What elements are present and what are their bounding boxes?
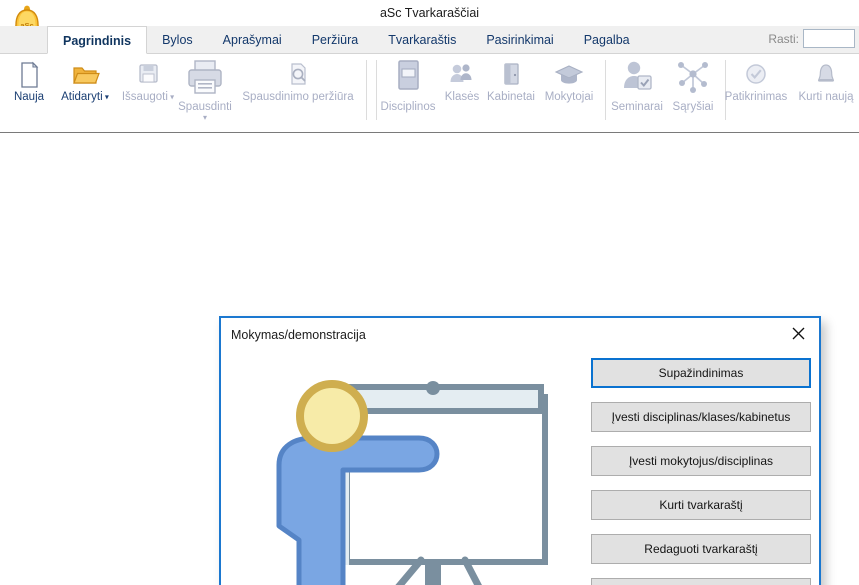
- ribbon-label-spausdinimo-perziura: Spausdinimo peržiūra: [238, 91, 358, 103]
- print-preview-icon: [238, 60, 358, 90]
- close-icon[interactable]: [781, 322, 815, 348]
- tab-aprasymai[interactable]: Aprašymai: [208, 26, 297, 54]
- tab-list: Pagrindinis Bylos Aprašymai Peržiūra Tva…: [47, 26, 645, 54]
- search-input[interactable]: [803, 29, 855, 48]
- mokymas-demonstracija-dialog: Mokymas/demonstracija: [219, 316, 821, 585]
- ribbon-button-mokytojai[interactable]: Mokytojai: [538, 60, 600, 103]
- tab-bylos[interactable]: Bylos: [147, 26, 208, 54]
- button-tvarkarascio-patikrinimas[interactable]: Tvarkaraščio patikrinimas: [591, 578, 811, 585]
- window-title: aSc Tvarkaraščiai: [0, 0, 859, 26]
- ribbon-toolbar: Nauja Atidaryti ▾ Išsa: [0, 54, 859, 133]
- tab-pagrindinis[interactable]: Pagrindinis: [47, 26, 147, 54]
- button-kurti-tvarkarasti[interactable]: Kurti tvarkaraštį: [591, 490, 811, 520]
- ribbon-button-spausdinti[interactable]: Spausdinti ▾: [167, 56, 243, 122]
- ribbon-label-sarysiai: Sąryšiai: [666, 101, 720, 113]
- ribbon-button-atidaryti[interactable]: Atidaryti ▾: [54, 60, 116, 103]
- printer-icon: [167, 56, 243, 100]
- title-bar: aSc aSc Tvarkaraščiai: [0, 0, 859, 26]
- ribbon-label-nauja: Nauja: [6, 91, 52, 103]
- person-check-icon: [608, 56, 666, 100]
- ribbon-label-spausdinti: Spausdinti: [167, 101, 243, 113]
- dialog-button-column: Supažindinimas Įvesti disciplinas/klases…: [591, 358, 811, 585]
- chevron-down-icon[interactable]: ▾: [103, 92, 109, 101]
- ribbon-label-atidaryti: Atidaryti ▾: [54, 91, 116, 103]
- class-group-icon: [440, 60, 484, 90]
- find-label: Rasti:: [768, 32, 799, 46]
- ribbon-label-issaugoti-text: Išsaugoti: [122, 91, 168, 103]
- application-window: aSc aSc Tvarkaraščiai Pagrindinis Bylos …: [0, 0, 859, 585]
- chevron-down-icon[interactable]: ▾: [167, 113, 243, 122]
- teacher-whiteboard-illustration: [269, 360, 579, 585]
- ribbon-label-klases: Klasės: [440, 91, 484, 103]
- ribbon-button-nauja[interactable]: Nauja: [6, 60, 52, 103]
- ribbon-button-sarysiai[interactable]: Sąryšiai: [666, 56, 720, 113]
- ribbon-button-disciplinos[interactable]: Disciplinos: [377, 56, 439, 113]
- network-graph-icon: [666, 56, 720, 100]
- ribbon-label-seminarai: Seminarai: [608, 101, 666, 113]
- ribbon-button-kabinetai[interactable]: Kabinetai: [482, 60, 540, 103]
- dialog-title: Mokymas/demonstracija: [231, 328, 366, 342]
- button-redaguoti-tvarkarasti[interactable]: Redaguoti tvarkaraštį: [591, 534, 811, 564]
- ribbon-label-disciplinos: Disciplinos: [377, 101, 439, 113]
- button-supazindinimas[interactable]: Supažindinimas: [591, 358, 811, 388]
- ribbon-label-kabinetai: Kabinetai: [482, 91, 540, 103]
- ribbon-label-atidaryti-text: Atidaryti: [61, 91, 103, 103]
- button-ivesti-disciplinas-klases-kabinetus[interactable]: Įvesti disciplinas/klases/kabinetus: [591, 402, 811, 432]
- ribbon-tab-strip: Pagrindinis Bylos Aprašymai Peržiūra Tva…: [0, 26, 859, 54]
- ribbon-button-kurti-nauja[interactable]: Kurti naują: [794, 60, 858, 103]
- new-document-icon: [6, 60, 52, 90]
- ribbon-label-kurti-nauja: Kurti naują: [794, 91, 858, 103]
- book-icon: [377, 56, 439, 100]
- ribbon-button-patikrinimas[interactable]: Patikrinimas: [718, 60, 794, 103]
- ribbon-button-klases[interactable]: Klasės: [440, 60, 484, 103]
- check-circle-icon: [718, 60, 794, 90]
- ribbon-label-patikrinimas: Patikrinimas: [718, 91, 794, 103]
- bell-small-icon: [794, 60, 858, 90]
- find-area: Rasti:: [768, 29, 855, 48]
- ribbon-separator: [366, 60, 367, 120]
- open-folder-icon: [54, 60, 116, 90]
- door-icon: [482, 60, 540, 90]
- tab-pagalba[interactable]: Pagalba: [569, 26, 645, 54]
- tab-pasirinkimai[interactable]: Pasirinkimai: [471, 26, 568, 54]
- button-ivesti-mokytojus-disciplinas[interactable]: Įvesti mokytojus/disciplinas: [591, 446, 811, 476]
- ribbon-button-spausdinimo-perziura[interactable]: Spausdinimo peržiūra: [238, 60, 358, 103]
- tab-tvarkarastis[interactable]: Tvarkaraštis: [373, 26, 471, 54]
- graduation-cap-icon: [538, 60, 600, 90]
- ribbon-button-seminarai[interactable]: Seminarai: [608, 56, 666, 113]
- ribbon-label-mokytojai: Mokytojai: [538, 91, 600, 103]
- tab-perziura[interactable]: Peržiūra: [297, 26, 374, 54]
- ribbon-separator: [605, 60, 606, 120]
- workspace-area: Mokymas/demonstracija: [0, 134, 859, 585]
